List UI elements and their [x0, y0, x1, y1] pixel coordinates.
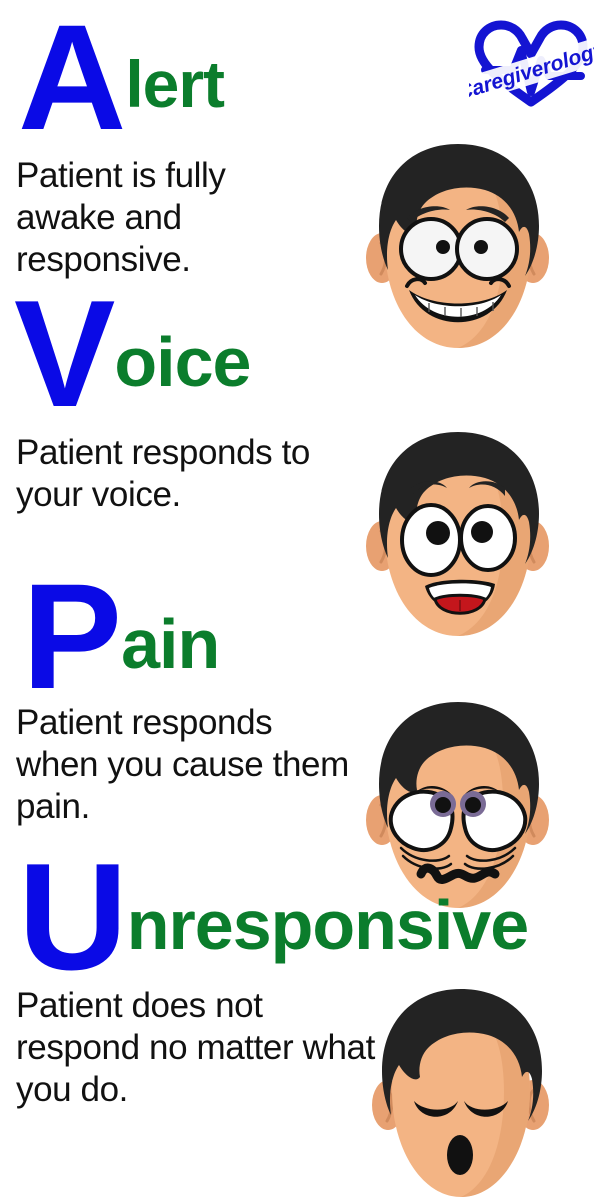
heading-letter-u: U — [18, 832, 127, 1002]
heading-word-pain: ain — [121, 605, 219, 683]
body-text-unresponsive: Patient does not respond no matter what … — [16, 985, 376, 1111]
face-unresponsive — [358, 985, 563, 1200]
heading-letter-v: V — [14, 269, 114, 439]
heading-letter-a: A — [18, 0, 125, 161]
heart-ekg-icon: Caregiverology — [469, 14, 594, 114]
body-text-voice: Patient responds to your voice. — [16, 432, 316, 516]
heading-word-alert: lert — [125, 47, 224, 121]
heading-word-unresponsive: nresponsive — [127, 886, 528, 964]
face-alert — [355, 140, 560, 365]
heading-pain: Pain — [22, 565, 219, 708]
heading-unresponsive: Unresponsive — [18, 845, 528, 989]
heading-voice: Voice — [14, 282, 250, 426]
body-text-pain: Patient responds when you cause them pai… — [16, 702, 356, 828]
heading-word-voice: oice — [114, 323, 250, 401]
heading-alert: Alert — [18, 6, 224, 149]
caregiverology-logo[interactable]: Caregiverology — [469, 14, 594, 114]
face-voice — [355, 428, 560, 653]
body-text-alert: Patient is fully awake and responsive. — [16, 155, 316, 281]
avpu-infographic: Caregiverology Alert Patient is fully aw… — [0, 0, 600, 1200]
heading-letter-p: P — [22, 552, 121, 720]
